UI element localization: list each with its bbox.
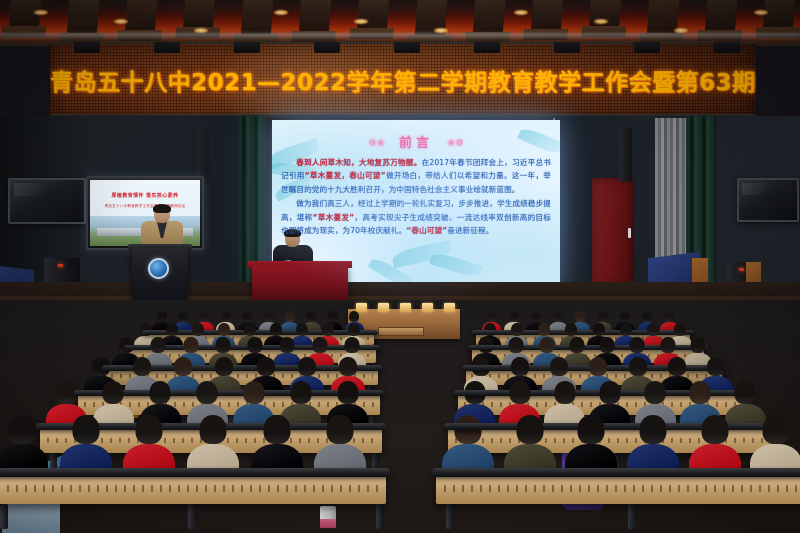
led-banner-text: 青岛五十八中2021—2022学年第二学期教育教学工作会暨第63期教师论坛 xyxy=(50,63,756,97)
attendee-head xyxy=(322,323,334,336)
ceiling-lamp xyxy=(274,10,288,15)
slide-body: 春到人间草木知，大地复苏万物醒。在2017年春节团拜会上，习近平总书记引用“草木… xyxy=(281,156,551,237)
wall-tv-left xyxy=(8,178,86,224)
hanging-speaker-box xyxy=(154,42,180,53)
attendee-head xyxy=(538,323,550,336)
attendee-head xyxy=(200,415,227,444)
attendee-head xyxy=(337,381,358,404)
head-table xyxy=(252,265,348,303)
slide-paragraph: 春到人间草木知，大地复苏万物醒。在2017年春节团拜会上，习近平总书记引用“草木… xyxy=(281,156,551,196)
attendee-head xyxy=(511,323,523,336)
hanging-speaker-box xyxy=(74,42,100,53)
side-monitor-line1: 厚植教育情怀 落实核心素养 xyxy=(90,192,200,199)
attendee-head xyxy=(150,381,171,404)
attendee-head xyxy=(593,323,605,336)
slide-highlight-text: 春到人间草木知，大地复苏万物醒。 xyxy=(296,158,421,167)
attendee-head xyxy=(487,311,497,322)
attendee-head xyxy=(589,357,607,376)
attendee-head xyxy=(553,311,563,322)
desk-leg xyxy=(446,504,454,529)
attendee-head xyxy=(192,323,204,336)
attendee-head xyxy=(199,311,209,322)
attendee-head xyxy=(690,337,705,353)
desk-leg xyxy=(188,504,196,529)
seat-rail xyxy=(432,468,800,477)
slide-highlight-text: “草木蔓发” xyxy=(312,213,354,222)
attendee-head xyxy=(174,357,192,376)
door-handle[interactable] xyxy=(628,228,631,238)
attendee-head xyxy=(215,337,230,353)
reflected-seat xyxy=(299,0,331,33)
reflected-seat xyxy=(183,0,215,29)
attendee-head xyxy=(151,337,166,353)
hanging-speaker-box xyxy=(714,42,740,53)
ceiling-lamp xyxy=(354,19,368,24)
attendee-head xyxy=(735,381,756,404)
attendee-head xyxy=(280,337,295,353)
attendee-head xyxy=(578,415,605,444)
hanging-speaker-box xyxy=(234,42,260,53)
auditorium-photo: 青岛五十八中2021—2022学年第二学期教育教学工作会暨第63期教师论坛 厚植… xyxy=(0,0,800,533)
ceiling-lamp xyxy=(114,19,128,24)
attendee-head xyxy=(72,415,99,444)
attendee-head xyxy=(348,323,360,336)
attendee-head xyxy=(9,415,36,444)
attendee-head xyxy=(296,323,308,336)
attendee-head xyxy=(215,357,233,376)
desk-device[interactable] xyxy=(444,303,455,312)
hanging-speaker-box xyxy=(474,42,500,53)
reflected-seat xyxy=(531,0,563,31)
slide-highlight-text: “春山可望” xyxy=(406,226,447,235)
attendee-head xyxy=(763,415,790,444)
school-crest-icon xyxy=(148,258,169,279)
attendee-head xyxy=(285,311,295,322)
attendee-head xyxy=(598,311,608,322)
attendee-head xyxy=(312,337,327,353)
hanging-speaker-box xyxy=(394,42,420,53)
attendee-head xyxy=(327,415,354,444)
attendee-head xyxy=(516,415,543,444)
reflected-seat xyxy=(589,0,621,28)
ceiling-lamp xyxy=(34,10,48,15)
desk-leg xyxy=(628,504,636,529)
hanging-speaker-box xyxy=(554,42,580,53)
speaker-power-led xyxy=(739,268,744,271)
desk-device[interactable] xyxy=(400,303,411,312)
attendee-head xyxy=(565,323,577,336)
ceiling-lamp xyxy=(594,19,608,24)
seating-desk-row xyxy=(0,474,386,504)
attendee-head xyxy=(290,381,311,404)
ceiling-lamp xyxy=(514,10,528,15)
attendee-head xyxy=(243,381,264,404)
attendee-head xyxy=(620,323,632,336)
desk-device[interactable] xyxy=(378,303,389,312)
attendee-head xyxy=(668,357,686,376)
attendee-head xyxy=(218,323,230,336)
speaker-power-led xyxy=(58,264,63,267)
attendee-head xyxy=(178,311,188,322)
attendee-head xyxy=(640,415,667,444)
attendee-head xyxy=(690,381,711,404)
attendee-head xyxy=(509,311,519,322)
slide-title: 前言 xyxy=(399,136,433,151)
attendee-head xyxy=(509,337,524,353)
slide-paragraph: 做为我们高三人，经过上学期的一轮扎实复习，步步推进，学生成绩稳步提高，堪称“草木… xyxy=(281,197,551,237)
attendee-head xyxy=(511,357,529,376)
slide-text: 奋进新征程。 xyxy=(447,226,493,235)
attendee-head xyxy=(645,381,666,404)
presenter-hair xyxy=(153,204,171,213)
attendee-head xyxy=(349,311,359,322)
attendee-head xyxy=(575,311,585,322)
reflected-seat xyxy=(241,0,274,36)
pink-cup[interactable] xyxy=(320,506,336,528)
reflected-seat xyxy=(125,0,157,32)
flower-decoration-left: ❁❀ xyxy=(368,138,385,149)
desk-leg xyxy=(376,504,384,529)
seating-desk-row xyxy=(436,474,800,504)
attendee-head xyxy=(550,357,568,376)
attendee-head xyxy=(248,337,263,353)
attendee-head xyxy=(264,311,274,322)
attendee-head xyxy=(257,357,275,376)
reflected-seat xyxy=(473,0,505,34)
attendee-head xyxy=(642,311,652,322)
wall-tv-right xyxy=(737,178,799,222)
attendee-head xyxy=(298,357,316,376)
reflected-seat xyxy=(357,0,389,30)
ceiling-reflection xyxy=(0,0,800,46)
attendee-head xyxy=(103,381,124,404)
attendee-head xyxy=(306,311,316,322)
attendee-head xyxy=(157,311,167,322)
attendee-head xyxy=(344,337,359,353)
attendee-head xyxy=(270,323,282,336)
bamboo-leaf xyxy=(429,250,483,279)
attendee-head xyxy=(554,381,575,404)
wall-speaker-right xyxy=(619,128,632,182)
attendee-head xyxy=(531,311,541,322)
attendee-head xyxy=(630,337,645,353)
attendee-head xyxy=(166,323,178,336)
attendee-head xyxy=(242,311,252,322)
hanging-speaker-box xyxy=(634,42,660,53)
attendee-head xyxy=(509,381,530,404)
slide-title-row: ❁❀前言❀❁ xyxy=(272,132,560,151)
slide-highlight-text: “草木蔓发，春山可望” xyxy=(305,171,386,180)
attendee-head xyxy=(701,415,728,444)
led-banner: 青岛五十八中2021—2022学年第二学期教育教学工作会暨第63期教师论坛 xyxy=(50,44,756,116)
attendee-head xyxy=(620,311,630,322)
attendee-head xyxy=(600,337,615,353)
flower-decoration-right: ❀❁ xyxy=(447,138,464,149)
hanging-speaker-box xyxy=(314,42,340,53)
attendee-head xyxy=(539,337,554,353)
attendee-head xyxy=(660,337,675,353)
attendee-head xyxy=(599,381,620,404)
ceiling-lamp xyxy=(754,10,768,15)
attendee-head xyxy=(629,357,647,376)
attendee-head xyxy=(183,337,198,353)
reflected-seat xyxy=(67,0,99,35)
attendee-head xyxy=(133,357,151,376)
attendee-head xyxy=(328,311,338,322)
attendee-head xyxy=(263,415,290,444)
attendee-head xyxy=(707,357,725,376)
attendee-head xyxy=(339,357,357,376)
seat-rail xyxy=(0,468,390,477)
attendee-head xyxy=(664,311,674,322)
desk-plate xyxy=(378,327,424,336)
attendee-head xyxy=(647,323,659,336)
desk-device[interactable] xyxy=(422,303,433,312)
attendee-head xyxy=(197,381,218,404)
attendee-head xyxy=(569,337,584,353)
attendee-head xyxy=(244,323,256,336)
reflected-seat xyxy=(705,0,737,32)
attendee-head xyxy=(136,415,163,444)
attendee-head xyxy=(674,323,686,336)
reflected-seat xyxy=(763,0,795,29)
ceiling-band xyxy=(0,33,800,39)
desk-leg xyxy=(0,504,8,529)
attendee-head xyxy=(221,311,231,322)
